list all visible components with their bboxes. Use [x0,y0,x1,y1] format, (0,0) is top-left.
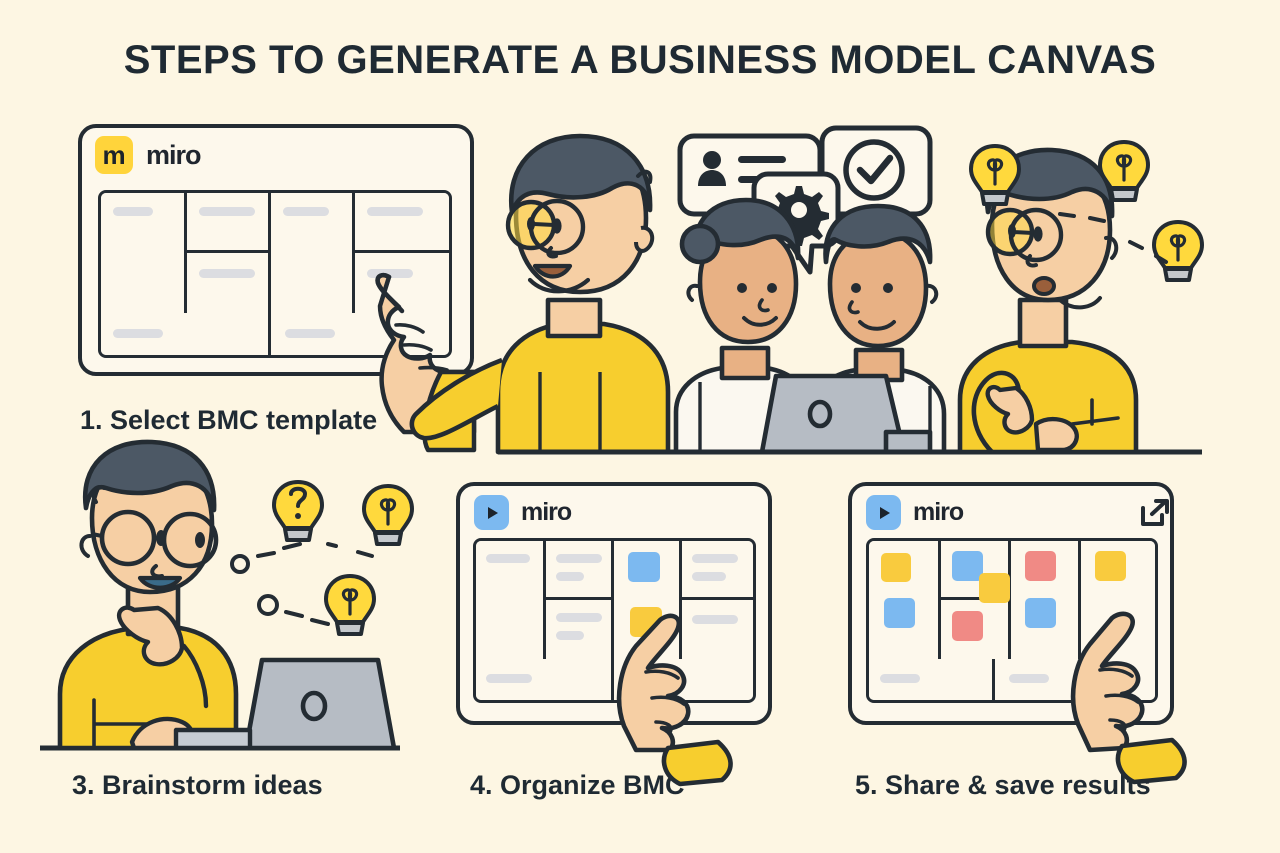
bmc-cell-channels[interactable] [682,600,756,659]
play-icon [474,495,509,530]
sticky-note[interactable] [630,607,662,637]
placeholder-bar [367,269,413,278]
sticky-note[interactable] [884,598,915,628]
lightbulb-icon [364,486,412,544]
speech-bubble-gear [754,174,838,272]
caption-step-5: 5. Share & save results [855,770,1151,801]
lightbulb-question-icon [274,482,322,540]
check-circle-icon [846,142,902,198]
placeholder-bar [486,554,530,563]
placeholder-bar [880,674,920,683]
placeholder-bar [556,554,602,563]
brainstorm-person-step-3 [40,442,400,748]
bmc-cell-key-activities[interactable] [187,193,271,253]
bmc-cell-key-resources[interactable] [187,253,271,313]
person-list-icon [698,151,786,186]
placeholder-bar [113,329,163,338]
bmc-cell-customer-relationships[interactable] [1081,541,1158,659]
board-4-logo-text: miro [521,498,571,527]
teammate-woman [676,200,810,452]
board-5-logo-text: miro [913,498,963,527]
thinking-person-step-2 [960,150,1136,452]
bmc-cell-key-partners[interactable] [869,541,941,659]
sticky-note[interactable] [628,552,660,582]
bmc-grid-1[interactable] [98,190,452,358]
bmc-grid-5[interactable] [866,538,1158,703]
bmc-cell-key-partners[interactable] [101,193,187,313]
teammate-man [812,206,944,452]
bmc-cell-cost-structure[interactable] [101,313,271,358]
bmc-cell-revenue-streams[interactable] [614,659,756,703]
bmc-cell-cost-structure[interactable] [869,659,995,703]
bmc-cell-channels[interactable] [355,253,452,313]
bmc-cell-value-proposition[interactable] [614,541,682,659]
caption-step-3: 3. Brainstorm ideas [72,770,323,801]
speech-bubble-person-list [680,136,820,236]
board-4-header: miro [474,495,571,530]
sticky-note[interactable] [1025,598,1056,628]
lightbulb-group-step-3 [232,482,412,634]
placeholder-bar [692,615,738,624]
bmc-cell-key-activities[interactable] [546,541,614,600]
sticky-note[interactable] [1025,551,1056,581]
placeholder-bar [367,207,423,216]
placeholder-bar [556,631,584,640]
bmc-grid-4[interactable] [473,538,756,703]
board-1-header: m miro [95,136,201,174]
bmc-cell-key-resources[interactable] [546,600,614,659]
lightbulb-icon [1154,222,1202,280]
shared-laptop [762,376,930,452]
lightbulb-icon [326,576,374,634]
placeholder-bar [692,554,738,563]
speech-bubble-check [822,128,930,238]
caption-step-1: 1. Select BMC template [80,405,377,436]
gear-icon [769,186,829,246]
bmc-cell-key-resources[interactable] [941,600,1011,659]
caption-step-4: 4. Organize BMC [470,770,685,801]
bmc-cell-revenue-streams[interactable] [995,659,1158,703]
miro-m-icon: m [95,136,133,174]
placeholder-bar [486,674,532,683]
sticky-note[interactable] [881,553,911,582]
placeholder-bar [692,572,726,581]
placeholder-bar [1009,674,1049,683]
bmc-cell-customer-relationships[interactable] [355,193,452,253]
sticky-note[interactable] [952,611,983,641]
bmc-cell-key-partners[interactable] [476,541,546,659]
placeholder-bar [283,207,329,216]
play-icon [866,495,901,530]
lightbulb-group-step-2 [971,142,1202,280]
bmc-cell-revenue-streams[interactable] [271,313,452,358]
board-1-logo-text: miro [146,140,201,171]
lightbulb-icon [971,146,1019,204]
placeholder-bar [556,613,602,622]
bmc-cell-value-proposition[interactable] [271,193,355,313]
placeholder-bar [199,207,255,216]
placeholder-bar [285,329,335,338]
bmc-cell-customer-relationships[interactable] [682,541,756,600]
sticky-note[interactable] [979,573,1010,603]
bmc-cell-cost-structure[interactable] [476,659,614,703]
infographic-canvas: STEPS TO GENERATE A BUSINESS MODEL CANVA… [0,0,1280,853]
placeholder-bar [556,572,584,581]
placeholder-bar [113,207,153,216]
external-link-icon[interactable] [1138,497,1172,529]
bmc-cell-value-proposition[interactable] [1011,541,1081,659]
page-title: STEPS TO GENERATE A BUSINESS MODEL CANVA… [0,38,1280,83]
board-5-header: miro [866,495,963,530]
sticky-note[interactable] [1095,551,1126,581]
placeholder-bar [199,269,255,278]
lightbulb-icon [1100,142,1148,200]
